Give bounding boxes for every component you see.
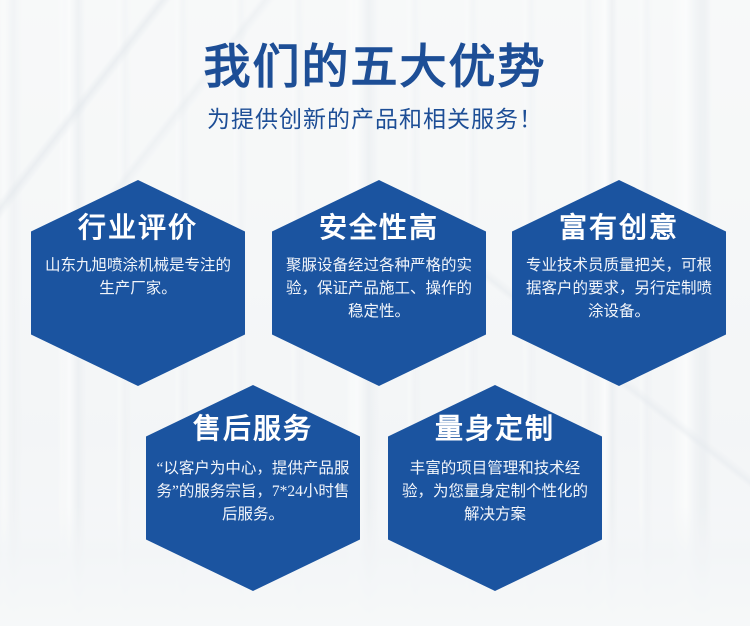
advantage-body: 专业技术员质量把关，可根据客户的要求，另行定制喷涂设备。	[516, 254, 722, 324]
advantage-body: 丰富的项目管理和技术经验，为您量身定制个性化的解决方案	[392, 457, 598, 527]
banner-header: 我们的五大优势 为提供创新的产品和相关服务！	[0, 44, 750, 133]
advantage-body: “以客户为中心，提供产品服务”的服务宗旨，7*24小时售后服务。	[150, 457, 356, 527]
advantage-title: 安全性高	[276, 214, 482, 245]
advantages-banner: 我们的五大优势 为提供创新的产品和相关服务！ 行业评价 山东九旭喷涂机械是专注的…	[0, 0, 750, 626]
advantage-title: 行业评价	[35, 214, 241, 245]
advantage-body: 聚脲设备经过各种严格的实验，保证产品施工、操作的稳定性。	[276, 254, 482, 324]
advantage-title: 富有创意	[516, 214, 722, 245]
advantage-body: 山东九旭喷涂机械是专注的生产厂家。	[35, 254, 241, 301]
page-title: 我们的五大优势	[0, 44, 750, 93]
page-subtitle: 为提供创新的产品和相关服务！	[0, 107, 750, 132]
